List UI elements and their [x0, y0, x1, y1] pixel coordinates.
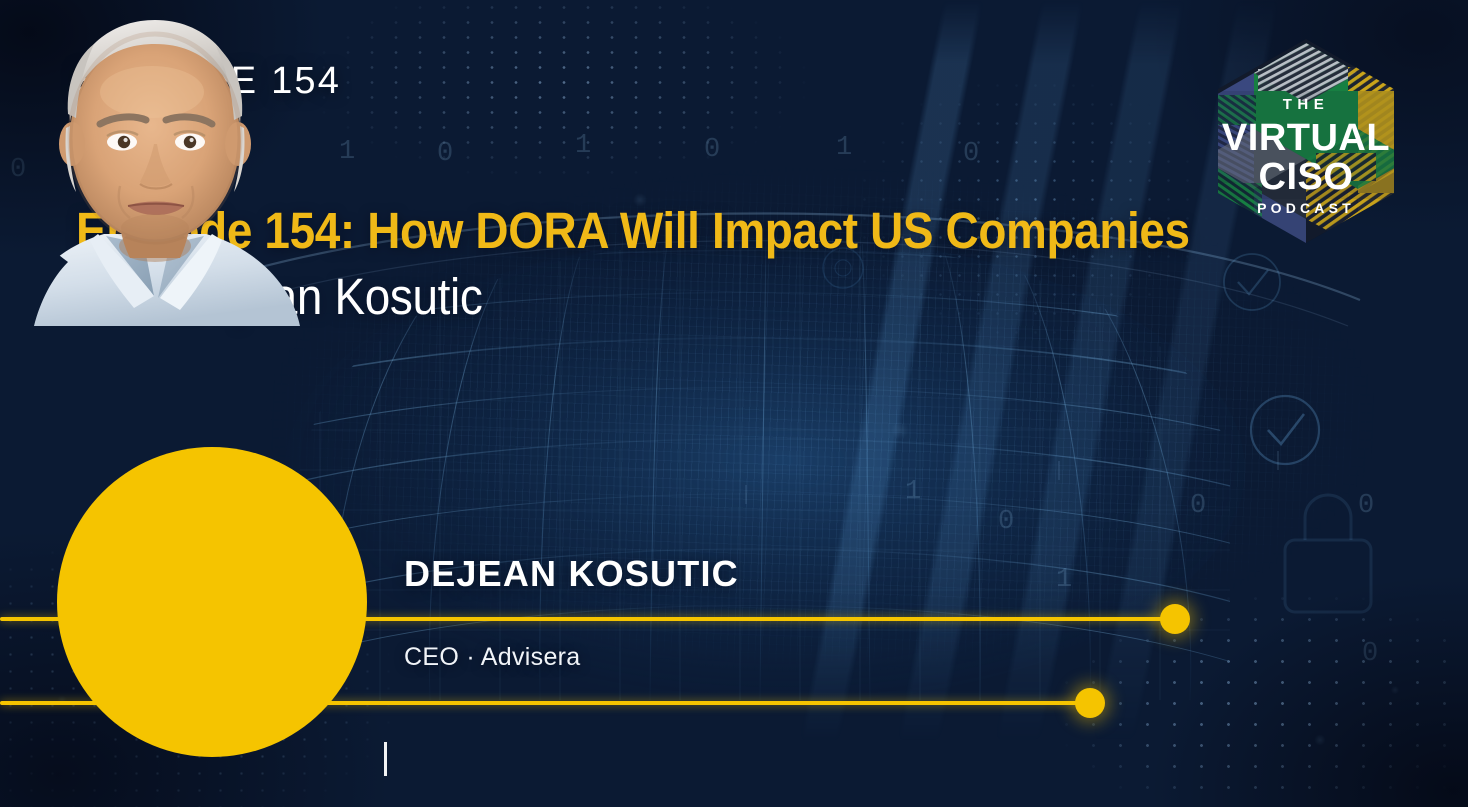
svg-text:1: 1 [836, 133, 852, 163]
svg-text:|: | [740, 484, 752, 507]
connector-knob-top [1160, 604, 1190, 634]
speaker-avatar-circle [57, 447, 367, 757]
connector-knob-bottom [1075, 688, 1105, 718]
svg-text:1: 1 [905, 477, 921, 507]
svg-text:0: 0 [1362, 639, 1378, 669]
logo-word-podcast: PODCAST [1257, 200, 1355, 216]
logo-word-virtual: VIRTUAL [1222, 117, 1390, 159]
svg-text:|: | [1053, 460, 1065, 483]
podcast-episode-card: 0 0 1 0 1 0 1 0 0 0 0 0 1 1 | | | | [0, 0, 1468, 807]
svg-text:0: 0 [437, 139, 453, 169]
svg-text:0: 0 [1190, 491, 1206, 521]
svg-text:1: 1 [339, 137, 355, 167]
svg-text:0: 0 [1358, 491, 1374, 521]
speaker-role: CEO · Advisera [404, 645, 580, 670]
svg-text:0: 0 [963, 139, 979, 169]
logo-word-the: THE [1283, 96, 1330, 113]
svg-text:1: 1 [1056, 565, 1072, 595]
logo-word-ciso: CISO [1259, 156, 1354, 198]
svg-text:0: 0 [998, 507, 1014, 537]
svg-text:|: | [1272, 450, 1284, 473]
svg-text:1: 1 [575, 131, 591, 161]
virtual-ciso-podcast-logo[interactable]: THE VIRTUAL CISO PODCAST [1198, 33, 1414, 249]
avatar [0, 0, 316, 326]
tick-mark-icon [384, 742, 387, 776]
svg-text:0: 0 [704, 135, 720, 165]
speaker-name: DEJEAN KOSUTIC [404, 556, 739, 592]
